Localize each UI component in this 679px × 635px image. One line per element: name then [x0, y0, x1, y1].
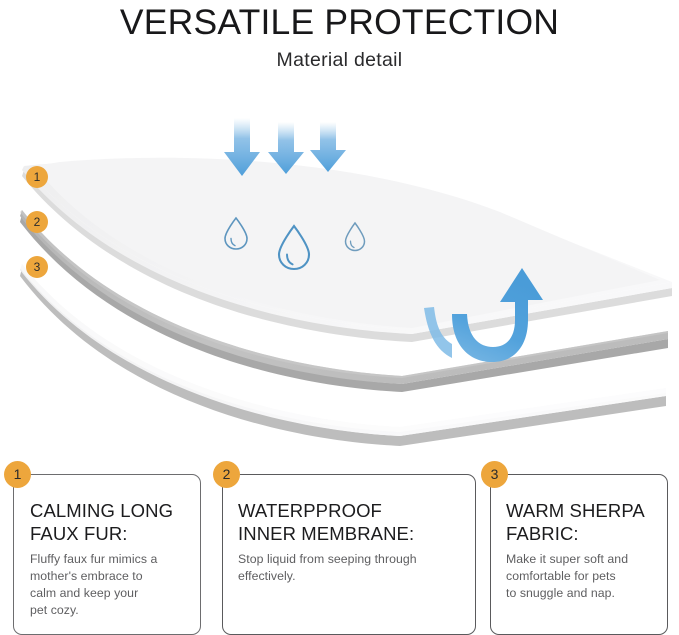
layer-badge-3[interactable]: 3 [26, 256, 48, 278]
card-3-content: WARM SHERPA FABRIC: Make it super soft a… [491, 475, 667, 634]
layer-1-faux-fur-shape [22, 158, 672, 342]
layer-badge-2[interactable]: 2 [26, 211, 48, 233]
card-1-body: Fluffy faux fur mimics a mother's embrac… [30, 551, 186, 619]
card-calming-long-faux-fur: 1 CALMING LONG FAUX FUR: Fluffy faux fur… [13, 474, 201, 635]
material-layers-diagram: 1 2 3 [0, 96, 679, 446]
card-3-body: Make it super soft and comfortable for p… [506, 551, 657, 602]
card-1-heading: CALMING LONG FAUX FUR: [30, 500, 186, 545]
card-2-content: WATERPPROOF INNER MEMBRANE: Stop liquid … [223, 475, 475, 634]
card-2-heading: WATERPPROOF INNER MEMBRANE: [238, 500, 465, 545]
layer-badge-1[interactable]: 1 [26, 166, 48, 188]
down-arrow-icon [310, 122, 346, 172]
card-waterproof-inner-membrane: 2 WATERPPROOF INNER MEMBRANE: Stop liqui… [222, 474, 476, 635]
card-badge-3[interactable]: 3 [481, 461, 508, 488]
card-3-heading: WARM SHERPA FABRIC: [506, 500, 657, 545]
page-title: VERSATILE PROTECTION [0, 2, 679, 43]
page-subtitle: Material detail [0, 49, 679, 72]
card-warm-sherpa-fabric: 3 WARM SHERPA FABRIC: Make it super soft… [490, 474, 668, 635]
header: VERSATILE PROTECTION Material detail [0, 0, 679, 92]
card-badge-2[interactable]: 2 [213, 461, 240, 488]
card-badge-1[interactable]: 1 [4, 461, 31, 488]
feature-cards-row: 1 CALMING LONG FAUX FUR: Fluffy faux fur… [0, 452, 679, 635]
card-1-content: CALMING LONG FAUX FUR: Fluffy faux fur m… [14, 475, 200, 634]
card-2-body: Stop liquid from seeping through effecti… [238, 551, 465, 585]
material-layers-illustration [0, 96, 679, 446]
liquid-incoming-arrows [224, 118, 346, 176]
